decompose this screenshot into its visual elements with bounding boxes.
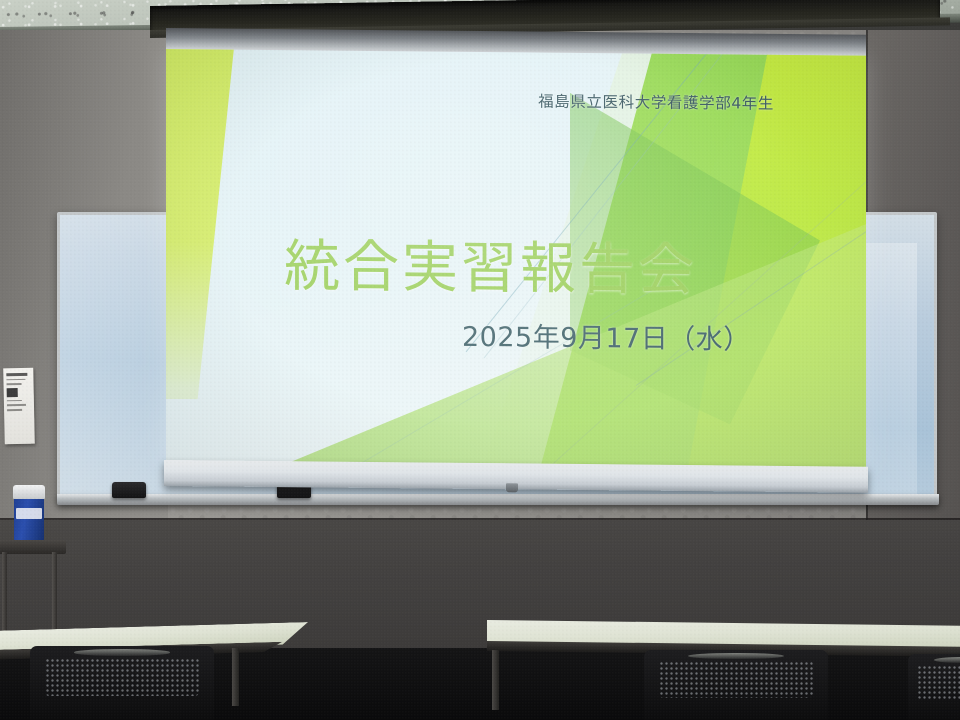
desk-leg [492, 650, 499, 710]
screen-pull-handle[interactable] [506, 483, 518, 492]
notice-heading-line [6, 373, 27, 376]
chair-backrest-top [688, 653, 784, 659]
slide-title: 統合実習報告会 [284, 236, 697, 302]
container-lid [13, 485, 45, 499]
notice-text-line [7, 383, 22, 385]
chair[interactable] [908, 654, 960, 720]
chair-mesh-back [917, 665, 960, 699]
chair-mesh-back [659, 661, 814, 697]
slide-eyebrow-text: 福島県立医科大学看護学部4年生 [538, 90, 774, 114]
chair[interactable] [644, 650, 828, 720]
notice-figure [7, 388, 18, 397]
chair-mesh-back [45, 658, 200, 696]
whiteboard-marker-tray [57, 494, 939, 505]
notice-text-line [7, 409, 22, 411]
classroom-scene: 福島県立医科大学看護学部4年生 統合実習報告会 2025年9月17日（水） [0, 0, 960, 720]
whiteboard-eraser[interactable] [112, 482, 146, 498]
notice-text-line [7, 400, 22, 402]
presentation-slide: 福島県立医科大学看護学部4年生 統合実習報告会 2025年9月17日（水） [166, 49, 866, 468]
desk-leg [232, 648, 239, 706]
slide-date: 2025年9月17日（水） [462, 315, 751, 357]
side-table-leg [2, 552, 7, 636]
side-table-leg [52, 552, 57, 636]
chair-backrest-top [74, 649, 170, 656]
wall-notice [3, 368, 35, 445]
notice-text-line [6, 378, 25, 380]
notice-text-line [7, 404, 26, 406]
chair[interactable] [30, 646, 214, 720]
chair-backrest-top [934, 657, 960, 663]
projection-screen: 福島県立医科大学看護学部4年生 統合実習報告会 2025年9月17日（水） [166, 28, 866, 495]
container-label [16, 508, 42, 519]
